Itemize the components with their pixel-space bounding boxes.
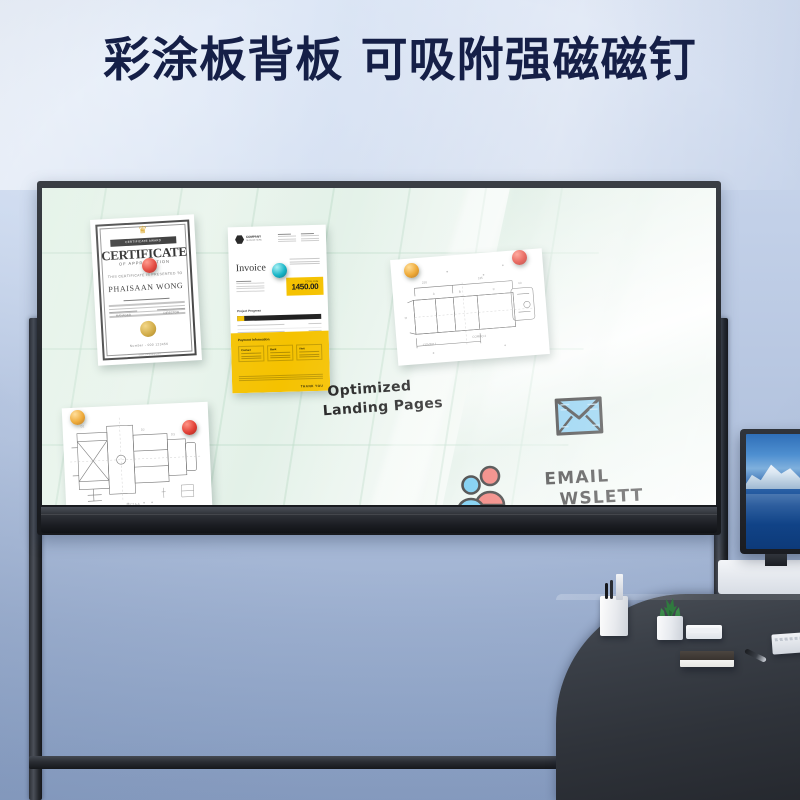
invoice-payment-boxes: Contact Bank Visit <box>238 344 322 362</box>
invoice-table-headrow <box>237 314 321 321</box>
invoice-meta <box>278 233 319 243</box>
list-item: Bank <box>267 345 293 361</box>
svg-text:D3: D3 <box>171 432 175 436</box>
list-item: Contact <box>238 345 264 361</box>
invoice-logo: COMPANY SLOGAN HERE <box>235 234 262 244</box>
magnet-teal-invoice[interactable] <box>272 263 287 278</box>
invoice-payment-box-label: Visit <box>299 347 319 351</box>
svg-text:D2: D2 <box>141 428 145 432</box>
magnet-red-drawing-top[interactable] <box>512 250 527 265</box>
pen-holder <box>600 596 628 636</box>
paper-tray <box>686 625 722 639</box>
pinned-certificate[interactable]: ♛ CERTIFICATE AWARD CERTIFICATE OF APPRE… <box>90 214 202 366</box>
pinned-invoice[interactable]: COMPANY SLOGAN HERE Invoice TOTAL DUE 14… <box>228 225 331 394</box>
board-writing-surface[interactable]: ♛ CERTIFICATE AWARD CERTIFICATE OF APPRE… <box>42 188 716 505</box>
svg-text:B: B <box>459 290 461 294</box>
svg-text:COMBO 1: COMBO 1 <box>423 342 437 347</box>
magnet-orange-drawing-left[interactable] <box>70 410 85 425</box>
monitor-stand <box>765 554 787 566</box>
svg-text:210: 210 <box>422 280 428 284</box>
svg-text:H: H <box>405 316 407 320</box>
monitor-base-panel <box>718 560 800 594</box>
desktop-monitor <box>740 429 800 554</box>
magnetic-glass-whiteboard[interactable]: ♛ CERTIFICATE AWARD CERTIFICATE OF APPRE… <box>37 181 721 535</box>
pen-black-2 <box>610 580 613 599</box>
notebook <box>680 651 734 667</box>
board-pen-tray[interactable] <box>41 507 717 533</box>
handwritten-email-line2: WSLETT <box>559 486 644 505</box>
invoice-amount-badge: TOTAL DUE 1450.00 <box>286 277 323 296</box>
svg-text:A: A <box>433 292 435 296</box>
product-scene: 彩涂板背板 可吸附强磁磁钉 <box>0 0 800 800</box>
svg-text:C: C <box>493 287 496 291</box>
wallpaper-sea-gloss <box>746 494 800 549</box>
handwritten-note-email: EMAIL WSLETT <box>544 464 644 505</box>
invoice-payment-title: Payment Information <box>238 336 329 343</box>
invoice-company-slogan: SLOGAN HERE <box>246 239 262 242</box>
invoice-amount-value: 1450.00 <box>291 283 318 292</box>
magnet-red-certificate[interactable] <box>142 258 157 273</box>
keyboard <box>771 631 800 654</box>
ruler <box>616 574 623 600</box>
invoice-table-header: Project Progress <box>237 307 321 313</box>
wallpaper-mountain <box>746 459 800 489</box>
invoice-payment-box-label: Contact <box>241 349 261 353</box>
list-item: Visit <box>296 344 322 360</box>
svg-text:135: 135 <box>478 276 484 280</box>
invoice-payment-box-label: Bank <box>270 348 290 352</box>
svg-text:60: 60 <box>518 281 522 285</box>
svg-text:D1: D1 <box>80 424 84 428</box>
page-title: 彩涂板背板 可吸附强磁磁钉 <box>0 33 800 88</box>
handwritten-note-landing-pages: Optimized Landing Pages <box>327 375 444 421</box>
monitor-screen <box>746 434 800 549</box>
magnet-orange-drawing-top[interactable] <box>404 263 419 278</box>
invoice-header: COMPANY SLOGAN HERE <box>235 233 319 245</box>
hexagon-logo-icon <box>235 235 244 244</box>
invoice-thanks: THANK YOU <box>301 384 324 389</box>
envelope-icon <box>553 395 605 438</box>
invoice-address-block <box>236 280 264 293</box>
invoice-terms <box>239 374 323 382</box>
invoice-payment-panel: Payment Information Contact Bank Visit T… <box>231 331 331 394</box>
invoice-title: Invoice <box>236 262 266 274</box>
invoice-logo-text: COMPANY SLOGAN HERE <box>246 236 262 243</box>
magnet-red-drawing-left[interactable] <box>182 420 197 435</box>
invoice-number-block <box>290 258 320 267</box>
people-icon <box>454 463 514 505</box>
pen-black-1 <box>605 583 608 599</box>
svg-text:COMBO 2: COMBO 2 <box>472 334 486 339</box>
crown-icon: ♛ <box>138 226 148 236</box>
plant-pot <box>657 616 683 640</box>
